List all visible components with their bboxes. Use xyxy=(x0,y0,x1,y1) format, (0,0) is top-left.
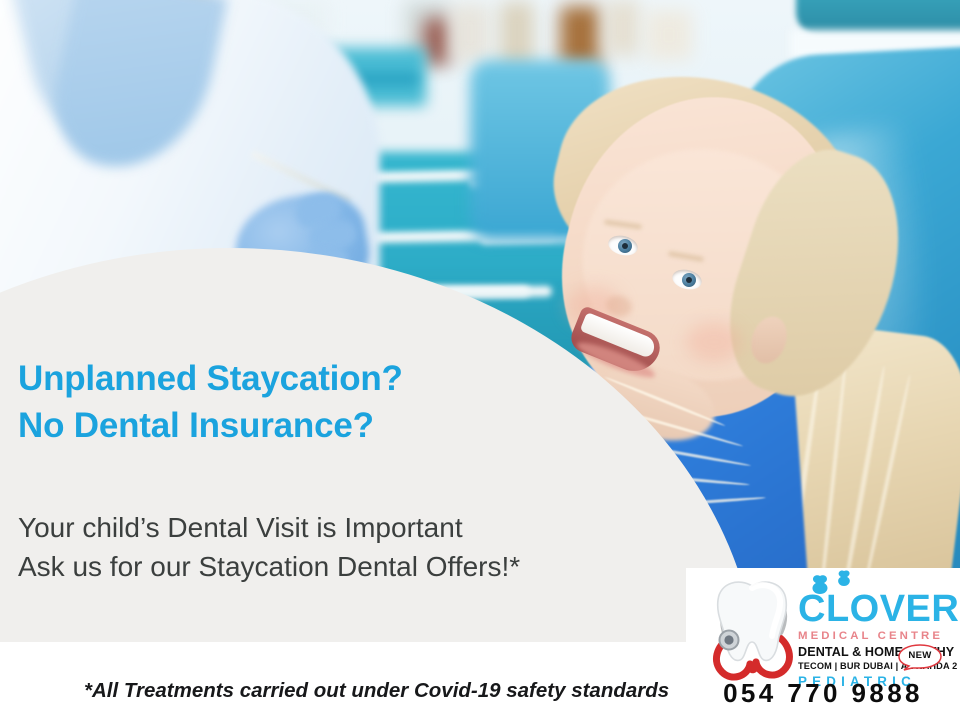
tooth-with-stethoscope-icon xyxy=(700,576,804,688)
child-pupil xyxy=(686,277,692,283)
shelf-item-icon xyxy=(646,10,692,60)
shelf-item-icon xyxy=(606,0,640,56)
clinic-logo-block: CLOVER MEDICAL CENTRE DENTAL & HOMEOPATH… xyxy=(686,568,960,720)
new-badge-label: NEW xyxy=(898,650,942,661)
brand-name: CLOVER xyxy=(798,590,960,628)
subcopy-line-1: Your child’s Dental Visit is Important xyxy=(18,508,558,547)
child-pupil xyxy=(622,243,628,249)
shelf-item-icon xyxy=(450,4,490,62)
brand-text-column: CLOVER MEDICAL CENTRE DENTAL & HOMEOPATH… xyxy=(798,570,960,689)
dental-advertisement: Unplanned Staycation? No Dental Insuranc… xyxy=(0,0,960,720)
headline: Unplanned Staycation? No Dental Insuranc… xyxy=(18,355,538,449)
shelf-item-icon xyxy=(560,6,600,68)
brand-tagline: MEDICAL CENTRE xyxy=(798,630,960,642)
child-cheek xyxy=(686,322,742,362)
headline-line-1: Unplanned Staycation? xyxy=(18,355,538,402)
subcopy: Your child’s Dental Visit is Important A… xyxy=(18,508,558,586)
headline-line-2: No Dental Insurance? xyxy=(18,402,538,449)
phone-number[interactable]: 054 770 9888 xyxy=(686,678,960,709)
disclaimer-text: *All Treatments carried out under Covid-… xyxy=(84,679,669,703)
shelf-item-icon xyxy=(424,18,450,64)
new-badge: NEW xyxy=(898,644,942,671)
subcopy-line-2: Ask us for our Staycation Dental Offers!… xyxy=(18,547,558,586)
